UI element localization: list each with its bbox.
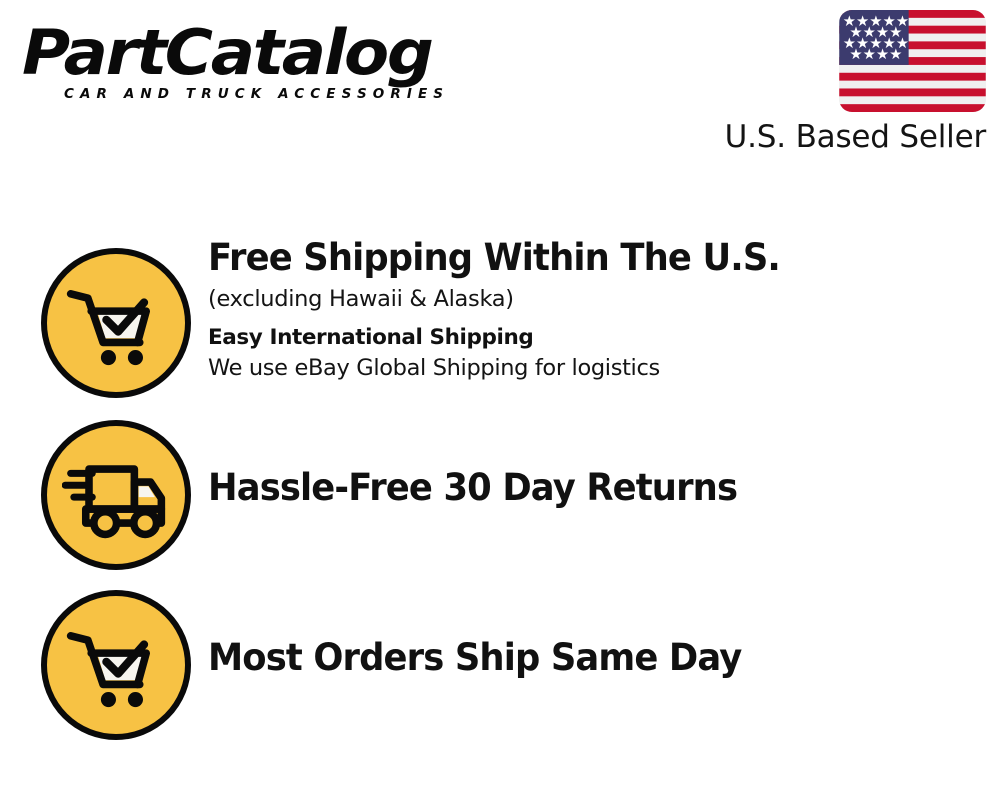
feature-row: Hassle-Free 30 Day Returns <box>0 390 1000 562</box>
feature-text-block: Most Orders Ship Same Day <box>208 636 1000 680</box>
feature-text-block: Hassle-Free 30 Day Returns <box>208 466 1000 510</box>
shopping-cart-check-icon <box>41 248 191 398</box>
feature-title: Free Shipping Within The U.S. <box>208 236 964 280</box>
feature-title: Hassle-Free 30 Day Returns <box>208 466 964 510</box>
feature-secondary-title: Easy International Shipping <box>208 324 1000 352</box>
seller-badge-label: U.S. Based Seller <box>711 119 986 155</box>
us-based-seller-badge: U.S. Based Seller <box>711 10 986 155</box>
feature-row: Most Orders Ship Same Day <box>0 560 1000 732</box>
page-header: PartCatalog CAR AND TRUCK ACCESSORIES <box>0 0 1000 170</box>
delivery-truck-icon <box>41 420 191 570</box>
brand-logo[interactable]: PartCatalog CAR AND TRUCK ACCESSORIES <box>22 22 492 102</box>
feature-row: Free Shipping Within The U.S. (excluding… <box>0 218 1000 390</box>
feature-secondary-subtitle: We use eBay Global Shipping for logistic… <box>208 353 1000 383</box>
feature-text-block: Free Shipping Within The U.S. (excluding… <box>208 218 1000 383</box>
feature-title: Most Orders Ship Same Day <box>208 636 964 680</box>
brand-wordmark: PartCatalog <box>22 22 520 84</box>
feature-subtitle: (excluding Hawaii & Alaska) <box>208 284 1000 314</box>
shopping-cart-check-icon <box>41 590 191 740</box>
us-flag-icon <box>839 10 986 112</box>
